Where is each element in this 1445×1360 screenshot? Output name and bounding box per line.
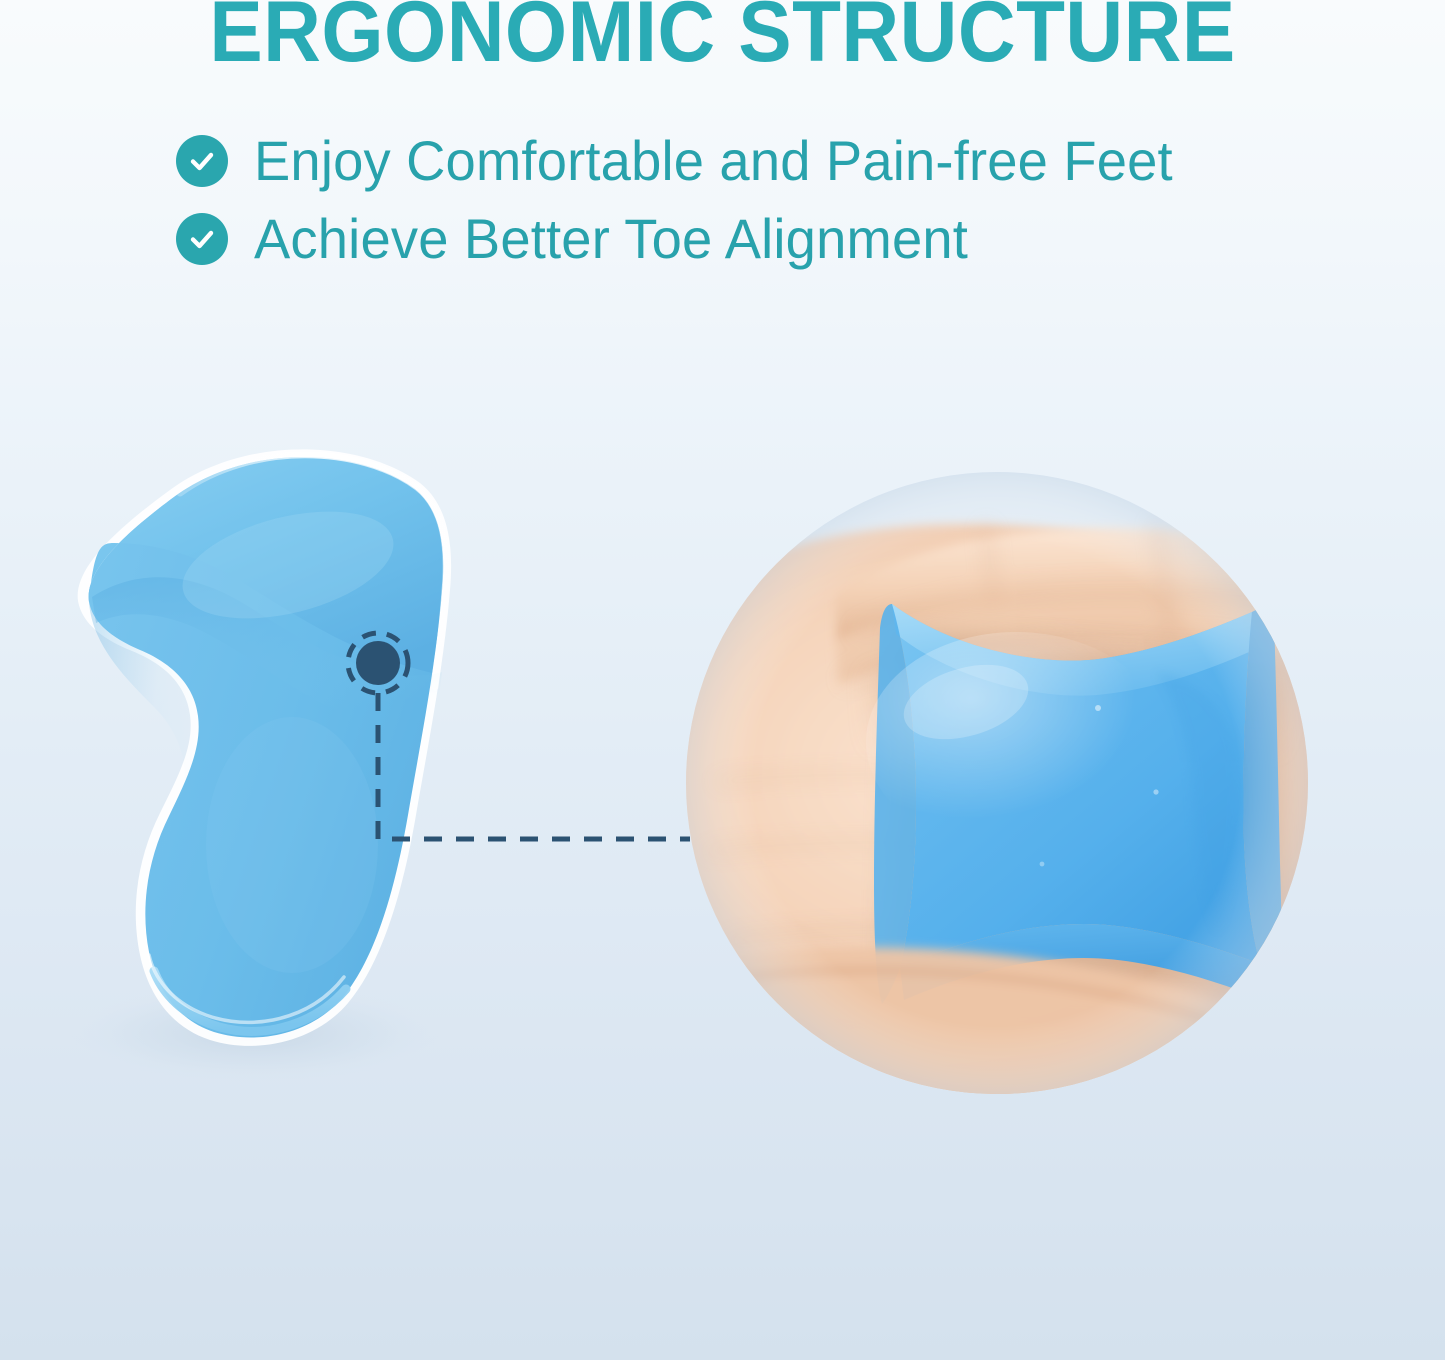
product-feature-banner: ERGONOMIC STRUCTURE Enjoy Comfortable an… (0, 0, 1445, 1360)
list-item-label: Achieve Better Toe Alignment (254, 209, 968, 269)
list-item: Enjoy Comfortable and Pain-free Feet (176, 122, 1296, 200)
list-item: Achieve Better Toe Alignment (176, 200, 1296, 278)
page-title: ERGONOMIC STRUCTURE (51, 0, 1395, 80)
check-circle-icon (176, 213, 228, 265)
check-circle-icon (176, 135, 228, 187)
hand-holding-product-photo (686, 472, 1308, 1094)
feature-bullet-list: Enjoy Comfortable and Pain-free Feet Ach… (176, 122, 1296, 278)
gel-toe-separator-3d-render (30, 415, 500, 1095)
list-item-label: Enjoy Comfortable and Pain-free Feet (254, 131, 1173, 191)
